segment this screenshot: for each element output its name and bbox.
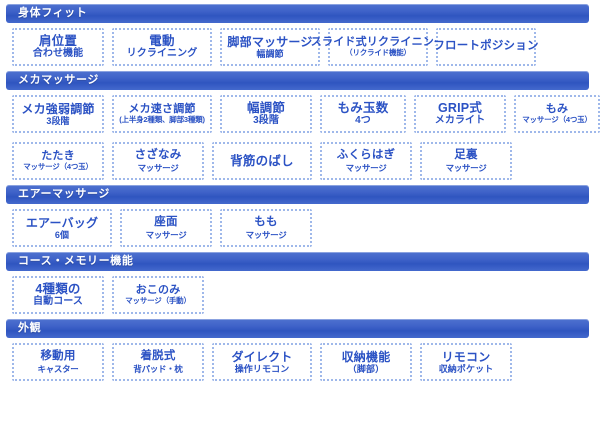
feature-box: 背筋のばし [212,142,312,180]
section-header-exterior: 外観 [6,319,589,338]
feature-label-main: ダイレクト [231,350,292,364]
feature-label-sub: マッサージ [138,163,179,173]
feature-box: メカ速さ調節(上半身2種類、脚部3種類) [112,95,212,133]
feature-box: 着脱式背パッド・枕 [112,343,204,381]
feature-box: 幅調節3段階 [220,95,312,133]
feature-label-main: 脚部マッサージ [227,35,312,49]
feature-label-main: GRIP式 [438,101,482,116]
feature-label-main: ふくらはぎ [337,149,396,163]
feature-spec-sheet: 身体フィット肩位置合わせ機能電動リクライニング脚部マッサージ幅調節スライド式リク… [0,0,600,442]
feature-row: 肩位置合わせ機能電動リクライニング脚部マッサージ幅調節スライド式リクライニング（… [6,23,594,70]
feature-box: 足裏マッサージ [420,142,512,180]
section-title: エアーマッサージ [18,189,110,200]
feature-label-main: 収納機能 [342,350,391,364]
section-title: メカマッサージ [18,75,99,86]
feature-label-main: もみ玉数 [338,101,389,116]
feature-label-main: もも [254,216,277,230]
section-air-massage: エアーマッサージエアーバッグ6個座面マッサージももマッサージ [6,185,594,251]
feature-box: フロートポジション [436,28,536,66]
section-mecha-massage: メカマッサージメカ強弱調節3段階メカ速さ調節(上半身2種類、脚部3種類)幅調節3… [6,71,594,184]
feature-box: 電動リクライニング [112,28,212,66]
section-course-memory: コース・メモリー機能4種類の自動コースおこのみマッサージ（手動） [6,252,594,318]
feature-label-sub: 6個 [55,230,69,241]
section-header-air-massage: エアーマッサージ [6,185,589,204]
feature-label-main: 背筋のばし [230,154,294,169]
feature-box: 脚部マッサージ幅調節 [220,28,320,66]
feature-label-main: 着脱式 [140,350,175,364]
feature-box: GRIP式メカライト [414,95,506,133]
feature-box: ももマッサージ [220,209,312,247]
feature-label-main: 4種類の [35,282,80,297]
feature-box: もみマッサージ（4つ玉） [514,95,600,133]
feature-box: メカ強弱調節3段階 [12,95,104,133]
feature-label-sub: （リクライド機能） [345,49,411,58]
section-header-body-fit: 身体フィット [6,4,589,23]
feature-label-sub: マッサージ [246,230,287,240]
feature-label-sub: リクライニング [127,48,198,60]
feature-box: 肩位置合わせ機能 [12,28,104,66]
feature-label-sub: 合わせ機能 [33,48,84,60]
section-title: コース・メモリー機能 [18,256,133,267]
feature-row: 移動用キャスター着脱式背パッド・枕ダイレクト操作リモコン収納機能（脚部）リモコン… [6,338,594,385]
feature-box: ダイレクト操作リモコン [212,343,312,381]
feature-label-sub: マッサージ [146,230,187,240]
feature-label-sub: (上半身2種類、脚部3種類) [119,116,205,125]
feature-box: たたきマッサージ（4つ玉） [12,142,104,180]
feature-box: エアーバッグ6個 [12,209,112,247]
feature-label-sub: 幅調節 [256,49,283,60]
feature-label-sub: （脚部） [348,364,384,375]
feature-label-sub: 背パッド・枕 [133,364,182,374]
feature-box: 座面マッサージ [120,209,212,247]
feature-label-main: 足裏 [454,149,477,163]
section-header-mecha-massage: メカマッサージ [6,71,589,90]
feature-row: たたきマッサージ（4つ玉）さざなみマッサージ背筋のばしふくらはぎマッサージ足裏マ… [6,137,594,184]
feature-box: リモコン収納ポケット [420,343,512,381]
feature-label-sub: 3段階 [253,115,279,127]
feature-box: 4種類の自動コース [12,276,104,314]
section-title: 身体フィット [18,8,87,19]
feature-label-main: フロートポジション [433,40,538,54]
feature-row: 4種類の自動コースおこのみマッサージ（手動） [6,271,594,318]
feature-box: もみ玉数4つ [320,95,406,133]
feature-label-main: メカ強弱調節 [21,102,94,116]
feature-box: おこのみマッサージ（手動） [112,276,204,314]
feature-label-main: 肩位置 [39,34,77,49]
feature-box: ふくらはぎマッサージ [320,142,412,180]
feature-label-sub: マッサージ [346,163,387,173]
section-title: 外観 [18,323,41,334]
feature-box: 移動用キャスター [12,343,104,381]
section-header-course-memory: コース・メモリー機能 [6,252,589,271]
feature-label-main: リモコン [442,350,491,364]
feature-label-sub: マッサージ（4つ玉） [522,116,592,125]
feature-label-main: 幅調節 [247,101,285,116]
feature-label-main: さざなみ [135,149,182,163]
feature-label-sub: マッサージ（4つ玉） [23,163,93,172]
feature-label-main: 電動 [149,34,174,49]
feature-label-sub: メカライト [435,115,486,127]
feature-label-sub: マッサージ（手動） [125,297,191,306]
section-body-fit: 身体フィット肩位置合わせ機能電動リクライニング脚部マッサージ幅調節スライド式リク… [6,4,594,70]
feature-label-main: エアーバッグ [26,216,98,230]
feature-label-main: 座面 [154,216,177,230]
feature-box: スライド式リクライニング（リクライド機能） [328,28,428,66]
feature-box: さざなみマッサージ [112,142,204,180]
feature-label-main: 移動用 [40,350,75,364]
feature-label-sub: キャスター [37,364,78,374]
feature-label-sub: マッサージ [446,163,487,173]
section-exterior: 外観移動用キャスター着脱式背パッド・枕ダイレクト操作リモコン収納機能（脚部）リモ… [6,319,594,385]
feature-box: 収納機能（脚部） [320,343,412,381]
feature-row: メカ強弱調節3段階メカ速さ調節(上半身2種類、脚部3種類)幅調節3段階もみ玉数4… [6,90,594,137]
feature-label-sub: 4つ [355,115,371,127]
feature-row: エアーバッグ6個座面マッサージももマッサージ [6,204,594,251]
feature-label-sub: 3段階 [46,116,69,127]
feature-label-sub: 収納ポケット [439,364,494,375]
feature-label-sub: 操作リモコン [235,364,290,375]
feature-label-sub: 自動コース [33,296,83,308]
